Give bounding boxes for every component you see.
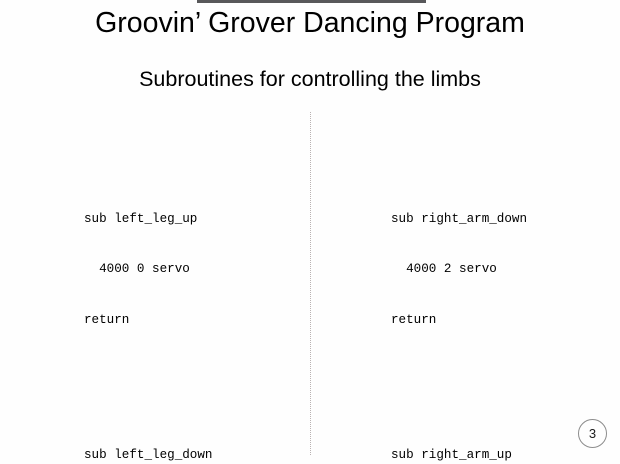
- code-line: sub left_leg_up: [84, 211, 212, 228]
- code-line: 4000 2 servo: [391, 261, 527, 278]
- page-number-badge: 3: [578, 419, 607, 448]
- code-block: sub right_arm_up 8000 2 servo return: [391, 413, 527, 464]
- code-column-right: sub right_arm_down 4000 2 servo return s…: [391, 143, 527, 464]
- code-line: 4000 0 servo: [84, 261, 212, 278]
- code-block: sub left_leg_down 8000 0 servo return: [84, 413, 212, 464]
- code-block: sub left_leg_up 4000 0 servo return: [84, 177, 212, 363]
- code-line: return: [84, 312, 212, 329]
- page-number-label: 3: [589, 426, 596, 441]
- code-line: sub right_arm_down: [391, 211, 527, 228]
- top-accent-bar: [197, 0, 426, 3]
- code-line: sub left_leg_down: [84, 447, 212, 464]
- page-subtitle: Subroutines for controlling the limbs: [0, 66, 620, 92]
- code-column-left: sub left_leg_up 4000 0 servo return sub …: [84, 143, 212, 464]
- slide: Groovin’ Grover Dancing Program Subrouti…: [0, 0, 620, 464]
- page-title: Groovin’ Grover Dancing Program: [0, 6, 620, 40]
- column-divider: [310, 112, 311, 455]
- code-line: return: [391, 312, 527, 329]
- code-line: sub right_arm_up: [391, 447, 527, 464]
- code-block: sub right_arm_down 4000 2 servo return: [391, 177, 527, 363]
